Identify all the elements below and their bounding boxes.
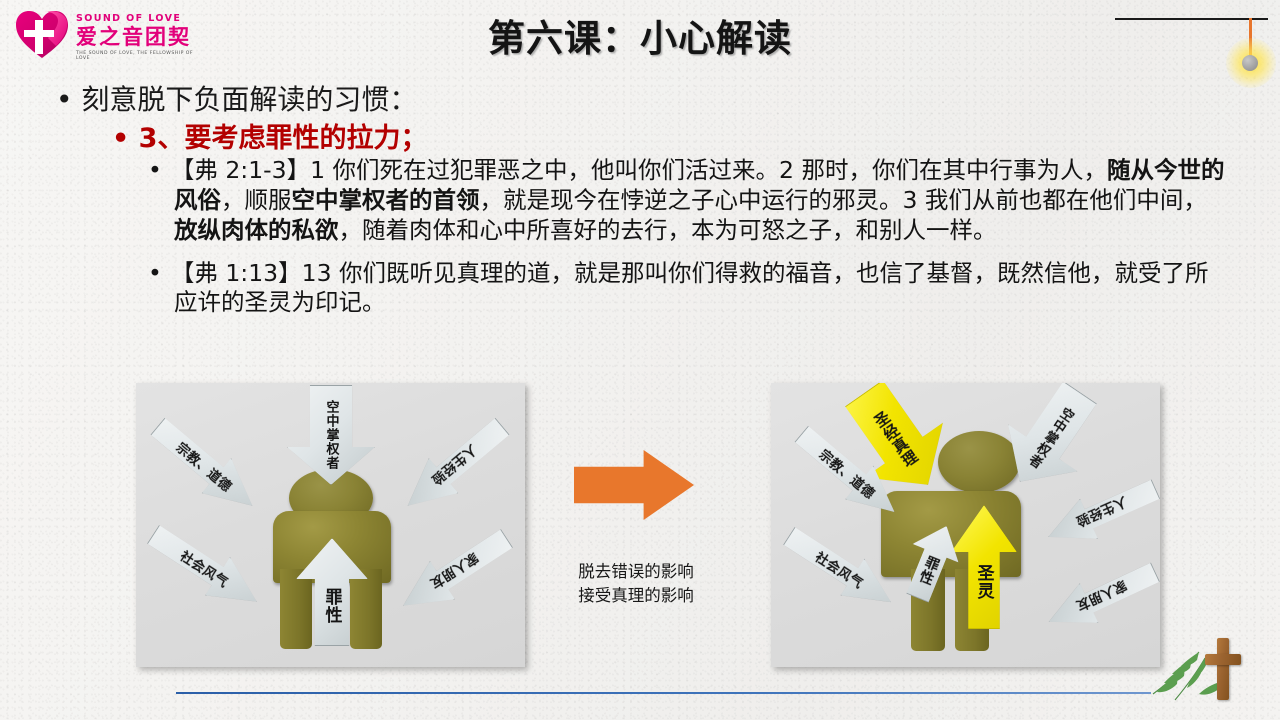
arrow-label: 家人朋友 xyxy=(1074,577,1131,617)
arrow-label: 罪性 xyxy=(320,588,345,624)
caption-line-2: 接受真理的影响 xyxy=(556,584,716,608)
arrow-life-experience: 人生经验 xyxy=(393,409,518,524)
figure-leg-left xyxy=(280,569,312,649)
before-diagram: 空中掌权者 罪性 宗教、道德 社会风气 人生经验 xyxy=(136,383,525,667)
arrow-label: 空中掌权者 xyxy=(322,400,341,470)
arrow-label: 人生经验 xyxy=(1073,493,1130,532)
arrow-label: 圣灵 xyxy=(972,564,997,600)
arrow-label: 人生经验 xyxy=(428,441,482,490)
body-line-2: • 3、要考虑罪性的拉力； xyxy=(112,116,427,155)
body-line-1: • 刻意脱下负面解读的习惯： xyxy=(56,78,417,118)
arrow-family-friends: 家人朋友 xyxy=(390,519,519,625)
arrow-authority-of-air: 空中掌权者 xyxy=(287,385,375,485)
scripture-item: 【弗 2:1-3】1 你们死在过犯罪恶之中，他叫你们活过来。2 那时，你们在其中… xyxy=(148,156,1228,246)
scripture-item: 【弗 1:13】13 你们既听见真理的道，就是那叫你们得救的福音，也信了基督，既… xyxy=(148,259,1228,319)
transition-right-arrow-icon xyxy=(574,450,694,520)
figure-leg-right xyxy=(350,569,382,649)
arrow-social-climate: 社会风气 xyxy=(140,515,269,621)
slide-canvas: SOUND OF LOVE 爱之音团契 THE SOUND OF LOVE, T… xyxy=(0,0,1280,720)
arrow-life-experience: 人生经验 xyxy=(1039,469,1160,557)
caption-line-1: 脱去错误的影响 xyxy=(556,560,716,584)
figure-head xyxy=(938,431,1020,493)
scripture-list: 【弗 2:1-3】1 你们死在过犯罪恶之中，他叫你们活过来。2 那时，你们在其中… xyxy=(148,156,1228,318)
bottom-divider xyxy=(176,692,1151,694)
arrow-religion-morality: 宗教、道德 xyxy=(143,409,268,524)
cross-icon xyxy=(1205,638,1241,700)
after-diagram: 圣经真理 圣灵 罪性 空中掌权者 宗教、道德 xyxy=(771,383,1160,667)
arrow-family-friends: 家人朋友 xyxy=(1039,552,1160,642)
transition-caption: 脱去错误的影响 接受真理的影响 xyxy=(556,560,716,608)
page-title: 第六课：小心解读 xyxy=(0,8,1280,62)
